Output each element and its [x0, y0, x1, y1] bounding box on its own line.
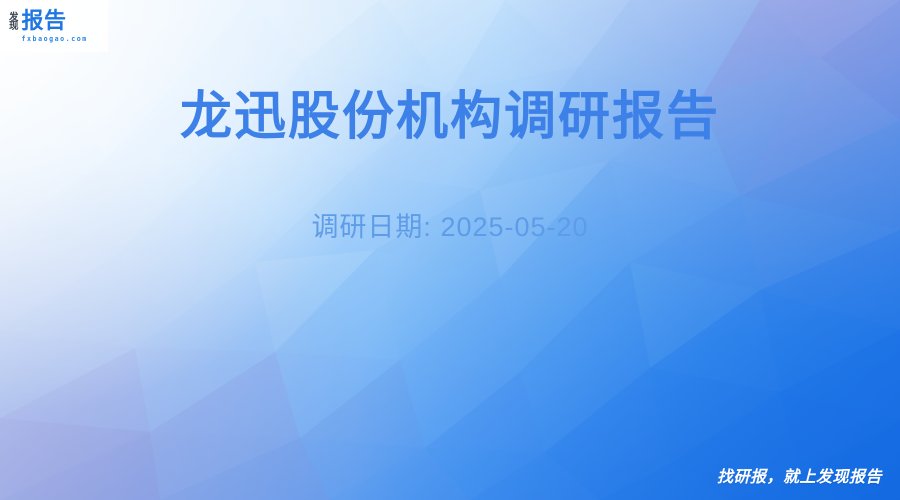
- logo-stacked-characters: 发 现: [9, 10, 19, 32]
- logo-wordmark-block: 报告 fxbaogao.com: [22, 10, 88, 43]
- logo-mark: 发 现 报告 fxbaogao.com: [9, 10, 88, 43]
- logo-url: fxbaogao.com: [22, 35, 88, 43]
- report-cover-slide: 发 现 报告 fxbaogao.com 龙迅股份机构调研报告 调研日期: 202…: [0, 0, 900, 500]
- logo-stacked-bottom: 现: [9, 22, 19, 32]
- low-poly-background: [0, 0, 900, 500]
- brand-logo[interactable]: 发 现 报告 fxbaogao.com: [0, 0, 108, 52]
- logo-wordmark: 报告: [22, 10, 67, 32]
- brand-tagline: 找研报，就上发现报告: [717, 463, 882, 487]
